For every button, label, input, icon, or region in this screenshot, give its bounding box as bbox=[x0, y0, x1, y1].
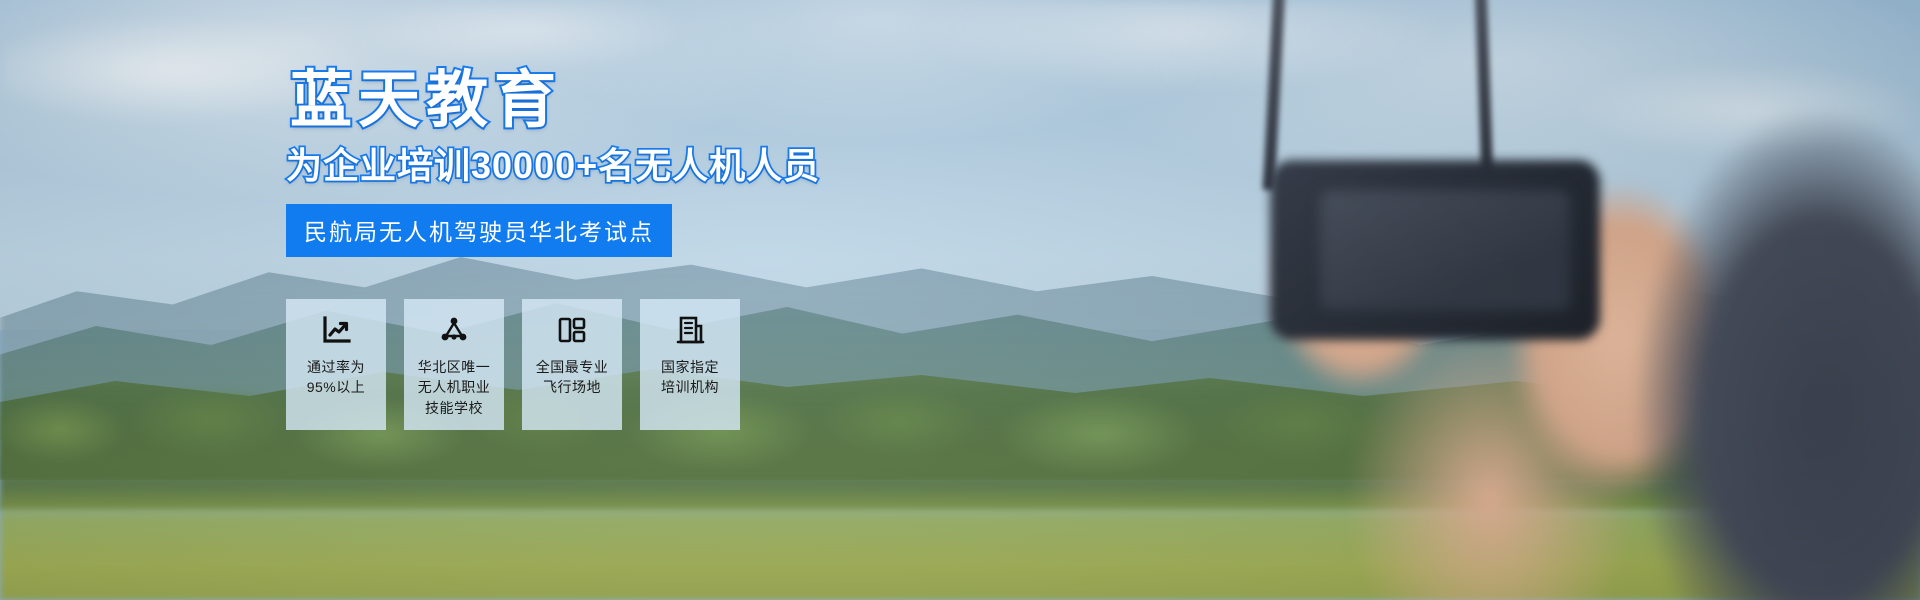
feature-card-label: 国家指定 培训机构 bbox=[661, 357, 719, 398]
page-title: 蓝天教育 bbox=[290, 70, 900, 132]
feature-card-pass-rate[interactable]: 通过率为 95%以上 bbox=[286, 299, 386, 430]
network-nodes-icon bbox=[437, 313, 471, 347]
feature-card-label: 全国最专业 飞行场地 bbox=[536, 357, 609, 398]
feature-card-flight-field[interactable]: 全国最专业 飞行场地 bbox=[522, 299, 622, 430]
feature-card-only-school[interactable]: 华北区唯一 无人机职业 技能学校 bbox=[404, 299, 504, 430]
feature-card-label: 通过率为 95%以上 bbox=[307, 357, 366, 398]
status-badge: 民航局无人机驾驶员华北考试点 bbox=[286, 204, 672, 257]
hero-subtitle: 为企业培训30000+名无人机人员 bbox=[286, 148, 900, 184]
hero-banner: 蓝天教育 为企业培训30000+名无人机人员 民航局无人机驾驶员华北考试点 通过… bbox=[0, 0, 1920, 600]
hero-content: 蓝天教育 为企业培训30000+名无人机人员 民航局无人机驾驶员华北考试点 通过… bbox=[280, 70, 900, 430]
controller-screen bbox=[1320, 190, 1570, 310]
layout-panels-icon bbox=[555, 313, 589, 347]
feature-card-label: 华北区唯一 无人机职业 技能学校 bbox=[418, 357, 491, 418]
feature-card-national-institution[interactable]: 国家指定 培训机构 bbox=[640, 299, 740, 430]
building-institution-icon bbox=[673, 313, 707, 347]
feature-card-list: 通过率为 95%以上 华北区唯一 无人机职业 技能学校 bbox=[286, 299, 900, 430]
trending-up-chart-icon bbox=[319, 313, 353, 347]
